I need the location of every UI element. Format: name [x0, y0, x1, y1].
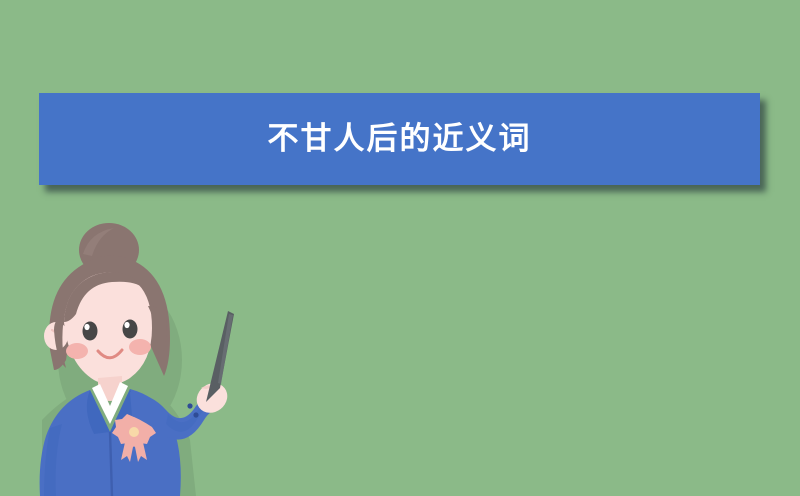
- badge-center: [129, 427, 139, 437]
- page-title: 不甘人后的近义词: [268, 124, 532, 155]
- page-root: 不甘人后的近义词: [0, 0, 800, 496]
- cuff-button-1: [187, 403, 192, 408]
- right-eye: [123, 320, 138, 339]
- right-cheek: [129, 339, 151, 355]
- left-eye-highlight: [84, 324, 89, 330]
- title-banner: 不甘人后的近义词: [39, 93, 760, 185]
- teacher-figure-svg: [20, 210, 240, 496]
- left-cheek: [66, 343, 88, 359]
- left-eye: [83, 322, 98, 341]
- right-eye-highlight: [124, 322, 129, 328]
- teacher-illustration: [20, 210, 240, 496]
- cuff-button-2: [193, 412, 198, 417]
